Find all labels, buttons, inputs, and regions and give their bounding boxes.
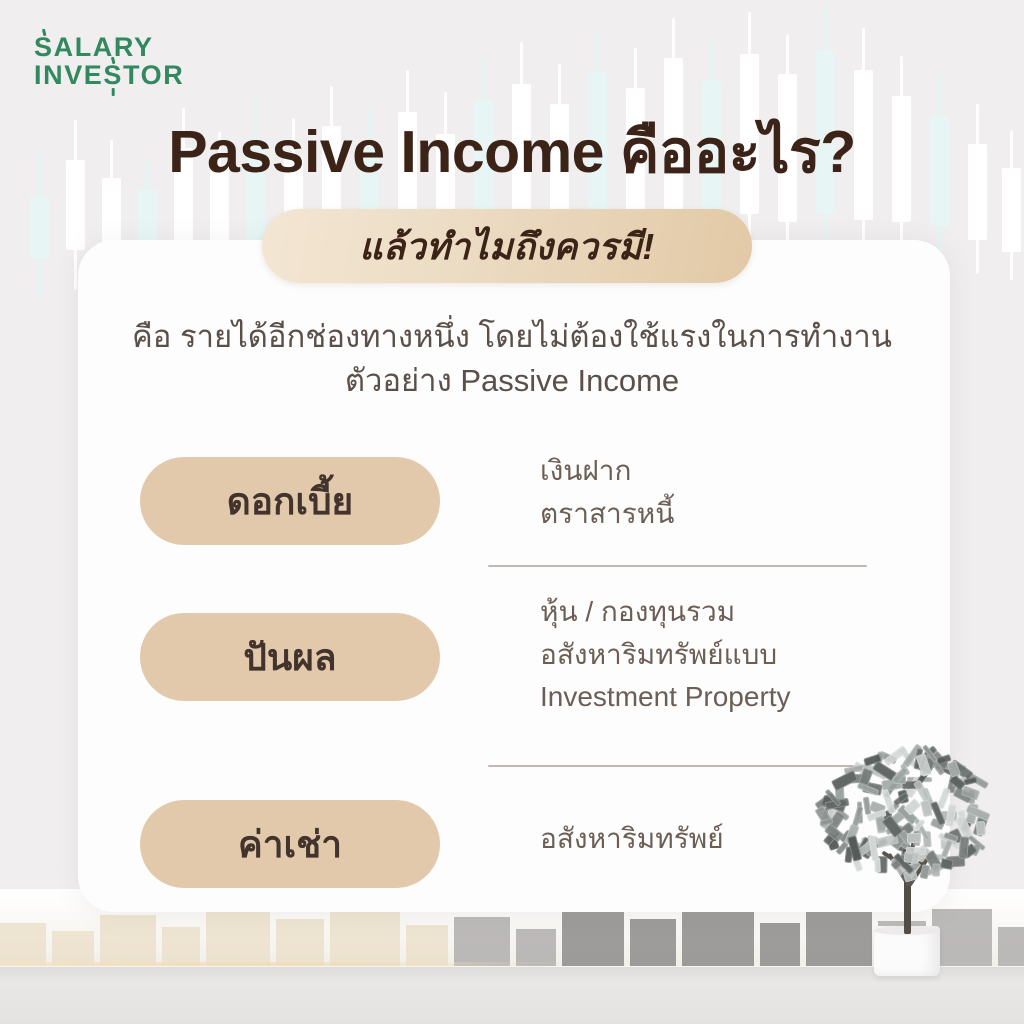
brand-logo-line-1: SALARY bbox=[34, 34, 184, 62]
row-divider-2 bbox=[488, 765, 867, 767]
income-desc-rent: อสังหาริมทรัพย์ bbox=[540, 818, 724, 861]
income-label-interest: ดอกเบี้ย bbox=[227, 472, 353, 531]
subtitle-badge-label: แล้วทำไมถึงควรมี! bbox=[359, 218, 654, 275]
dollar-bill-leaf bbox=[976, 821, 986, 836]
dollar-bill-leaf bbox=[831, 770, 858, 791]
dollar-bill-leaf bbox=[920, 865, 931, 880]
intro-text: คือ รายได้อีกช่องทางหนึ่ง โดยไม่ต้องใช้แ… bbox=[0, 315, 1024, 403]
infographic-canvas: SALARY INVESTOR Passive Income คืออะไร? … bbox=[0, 0, 1024, 1024]
subtitle-badge: แล้วทำไมถึงควรมี! bbox=[262, 209, 752, 283]
brand-s-glyph-bottom: S bbox=[103, 62, 123, 90]
income-desc-dividend-item-0: หุ้น / กองทุนรวม bbox=[540, 591, 791, 634]
income-desc-dividend-item-1: อสังหาริมทรัพย์แบบ bbox=[540, 634, 791, 677]
income-desc-interest-item-1: ตราสารหนี้ bbox=[540, 493, 674, 536]
page-title: Passive Income คืออะไร? bbox=[0, 104, 1024, 198]
money-tree-illustration bbox=[812, 742, 1012, 982]
income-desc-dividend: หุ้น / กองทุนรวม อสังหาริมทรัพย์แบบ Inve… bbox=[540, 591, 791, 719]
dollar-bill-leaf bbox=[932, 863, 941, 876]
income-desc-interest: เงินฝาก ตราสารหนี้ bbox=[540, 450, 674, 535]
brand-s-glyph-top: S bbox=[34, 34, 54, 62]
income-desc-rent-item-0: อสังหาริมทรัพย์ bbox=[540, 818, 724, 861]
intro-line-2: ตัวอย่าง Passive Income bbox=[0, 359, 1024, 403]
intro-line-1: คือ รายได้อีกช่องทางหนึ่ง โดยไม่ต้องใช้แ… bbox=[0, 315, 1024, 359]
income-desc-dividend-item-2: Investment Property bbox=[540, 676, 791, 719]
dollar-bill-leaf bbox=[907, 833, 922, 843]
row-divider-1 bbox=[488, 565, 867, 567]
income-label-pill-rent: ค่าเช่า bbox=[140, 800, 440, 888]
income-label-pill-dividend: ปันผล bbox=[140, 613, 440, 701]
income-label-pill-interest: ดอกเบี้ย bbox=[140, 457, 440, 545]
income-label-dividend: ปันผล bbox=[243, 628, 336, 687]
dollar-bill-leaf bbox=[904, 851, 920, 864]
brand-logo-line-1-text: ALARY bbox=[54, 34, 154, 62]
brand-logo: SALARY INVESTOR bbox=[34, 34, 184, 89]
brand-logo-line-2-prefix: INVE bbox=[34, 62, 103, 90]
income-label-rent: ค่าเช่า bbox=[238, 815, 342, 874]
income-desc-interest-item-0: เงินฝาก bbox=[540, 450, 674, 493]
brand-logo-line-2-suffix: TOR bbox=[123, 62, 184, 90]
brand-logo-line-2: INVESTOR bbox=[34, 62, 184, 90]
